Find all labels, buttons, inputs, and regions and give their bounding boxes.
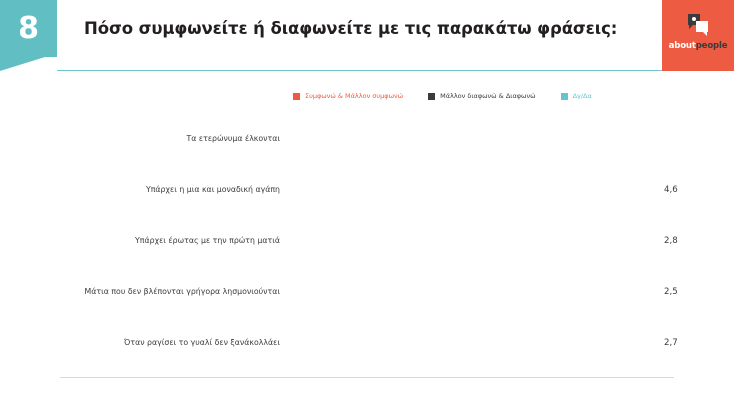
bar-track — [296, 228, 660, 254]
stacked-bar-chart: Τα ετερώνυμα έλκονταιΥπάρχει η μια και μ… — [0, 0, 734, 413]
bar-track — [296, 126, 660, 152]
category-label: Υπάρχει έρωτας με την πρώτη ματιά — [40, 220, 288, 260]
chart-row: Υπάρχει η μια και μοναδική αγάπη4,6 — [0, 169, 734, 209]
chart-row: Μάτια που δεν βλέπονται γρήγορα λησμονιο… — [0, 271, 734, 311]
bar-track — [296, 330, 660, 356]
category-label: Μάτια που δεν βλέπονται γρήγορα λησμονιο… — [40, 271, 288, 311]
bar-track — [296, 279, 660, 305]
bar-value-label-outside: 4,6 — [661, 177, 678, 203]
footer-divider — [60, 377, 674, 378]
category-label: Τα ετερώνυμα έλκονται — [40, 118, 288, 158]
bar-value-label-outside: 2,8 — [661, 228, 678, 254]
category-label: Όταν ραγίσει το γυαλί δεν ξανάκολλάει — [40, 322, 288, 362]
chart-row: Όταν ραγίσει το γυαλί δεν ξανάκολλάει2,7 — [0, 322, 734, 362]
bar-value-label-outside: 2,5 — [661, 279, 678, 305]
bar-track — [296, 177, 660, 203]
chart-row: Υπάρχει έρωτας με την πρώτη ματιά2,8 — [0, 220, 734, 260]
bar-value-label-outside: 2,7 — [661, 330, 678, 356]
category-label: Υπάρχει η μια και μοναδική αγάπη — [40, 169, 288, 209]
chart-row: Τα ετερώνυμα έλκονται — [0, 118, 734, 158]
